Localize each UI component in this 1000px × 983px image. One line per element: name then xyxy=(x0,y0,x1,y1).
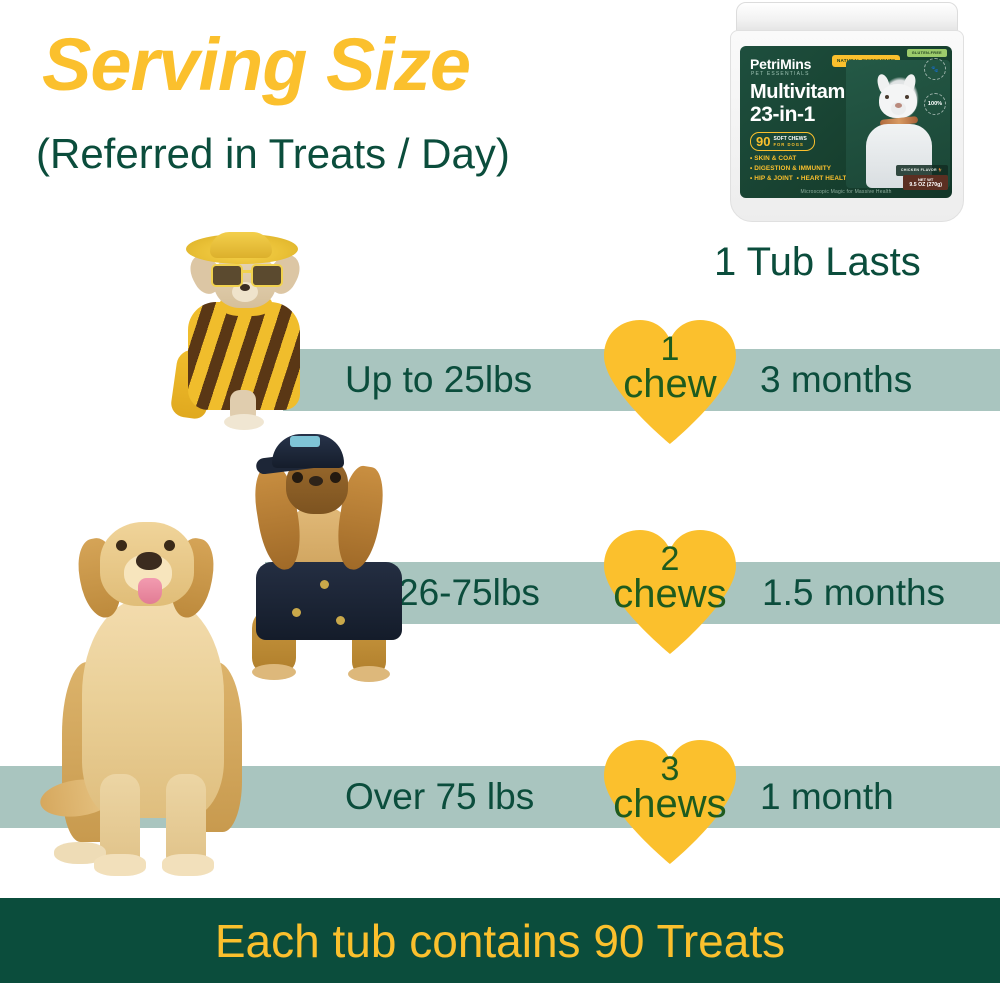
row-3-weight: Over 75 lbs xyxy=(345,766,534,828)
heart-icon xyxy=(600,318,740,444)
row-3-chew-heart-badge: 3 chews xyxy=(600,738,740,864)
tub-dog-eye-left xyxy=(885,95,889,99)
cavalier-eye-right xyxy=(330,472,341,483)
tub-dog-nose xyxy=(895,103,902,108)
benefit-item: HEART HEALTH xyxy=(801,175,851,182)
retriever-tongue xyxy=(138,578,162,604)
sunglasses-lens-left xyxy=(211,264,243,287)
tub-chew-count: 90 xyxy=(756,135,770,148)
tub-chew-label-sub: FOR DOGS xyxy=(773,142,806,147)
net-weight-value: 9.5 OZ (270g) xyxy=(909,182,942,189)
cavalier-eye-left xyxy=(292,472,303,483)
net-weight-badge: NET WT 9.5 OZ (270g) xyxy=(903,175,948,191)
benefit-item: SKIN & COAT xyxy=(754,155,796,162)
cavalier-denim-jacket xyxy=(256,562,402,640)
benefit-item: DIGESTION & IMMUNITY xyxy=(754,165,831,172)
hundred-percent-seal-icon: 100% xyxy=(924,93,946,115)
chihuahua-paw xyxy=(224,414,264,430)
cavalier-jacket-button xyxy=(292,608,301,617)
cavalier-jacket-button xyxy=(336,616,345,625)
tub-dog-eye-right xyxy=(905,95,909,99)
tub-tagline: Microscopic Magic for Massive Health xyxy=(740,189,952,195)
heart-icon xyxy=(600,528,740,654)
flavor-label: CHICKEN xyxy=(901,168,919,172)
tub-label: PetriMins PET ESSENTIALS NATURAL INGREDI… xyxy=(740,46,952,198)
retriever-paw-right xyxy=(162,854,214,876)
dog-photo-cavalier-spaniel xyxy=(228,432,428,684)
footer-text: Each tub contains 90 Treats xyxy=(215,914,785,968)
benefit-item: HIP & JOINT xyxy=(754,175,793,182)
product-tub-image: PetriMins PET ESSENTIALS NATURAL INGREDI… xyxy=(722,2,970,224)
retriever-paw-left xyxy=(94,854,146,876)
page-title: Serving Size xyxy=(42,28,470,102)
tub-product-subtitle: 23-in-1 xyxy=(750,104,815,125)
row-1-duration: 3 months xyxy=(760,349,912,411)
paw-seal-icon: 🐾 xyxy=(924,58,946,80)
cavalier-paw-left xyxy=(252,664,296,680)
tub-brand-tagline: PET ESSENTIALS xyxy=(751,71,810,77)
chihuahua-sunglasses-icon xyxy=(211,264,281,283)
retriever-nose xyxy=(136,552,162,570)
row-2-chew-heart-badge: 2 chews xyxy=(600,528,740,654)
serving-size-infographic: Serving Size (Referred in Treats / Day) … xyxy=(0,0,1000,983)
retriever-eye-left xyxy=(116,540,127,551)
cavalier-jacket-button xyxy=(320,580,329,589)
tub-lasts-heading: 1 Tub Lasts xyxy=(714,240,921,285)
row-1-chew-heart-badge: 1 chew xyxy=(600,318,740,444)
tub-benefits-list: • SKIN & COAT • DIGESTION & IMMUNITY • H… xyxy=(750,154,851,184)
row-2-duration: 1.5 months xyxy=(762,562,945,624)
tub-chew-count-label: SOFT CHEWS FOR DOGS xyxy=(773,136,806,147)
gluten-free-badge: GLUTEN-FREE xyxy=(907,49,947,57)
tub-brand-name: PetriMins xyxy=(750,56,811,72)
flavor-sublabel: FLAVOR xyxy=(921,168,937,172)
net-weight-label: NET WT xyxy=(918,177,933,182)
sunglasses-lens-right xyxy=(251,264,283,287)
footer-banner: Each tub contains 90 Treats xyxy=(0,898,1000,983)
row-1-weight: Up to 25lbs xyxy=(345,349,532,411)
retriever-eye-right xyxy=(164,540,175,551)
cavalier-nose xyxy=(309,476,323,486)
tub-chew-count-badge: 90 SOFT CHEWS FOR DOGS xyxy=(750,132,815,151)
cavalier-cap-patch xyxy=(290,436,320,447)
cavalier-paw-right xyxy=(348,666,390,682)
row-3-duration: 1 month xyxy=(760,766,894,828)
page-subtitle: (Referred in Treats / Day) xyxy=(36,133,510,175)
chihuahua-sun-hat-crown xyxy=(210,232,272,258)
heart-icon xyxy=(600,738,740,864)
dog-photo-chihuahua xyxy=(158,232,334,432)
